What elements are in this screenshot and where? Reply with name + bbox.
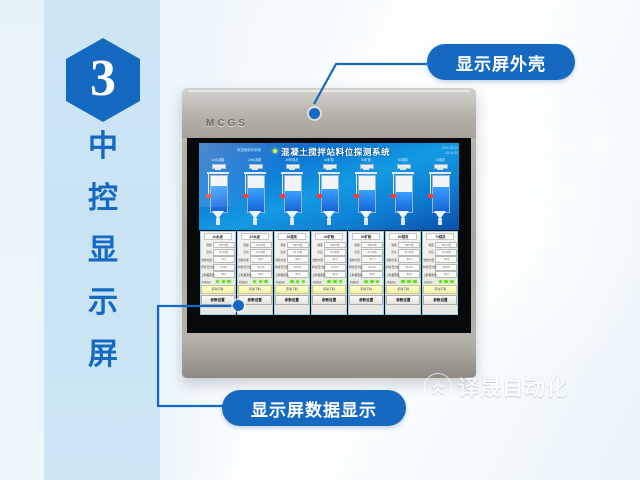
silo-sensor-icon <box>280 194 285 198</box>
field-value[interactable]: 02.30米 <box>398 249 420 256</box>
status-lights: 状态指示 <box>386 280 420 284</box>
silo-graphic <box>243 164 267 226</box>
field-label: 当前方量 <box>312 258 322 262</box>
field-label: 当前方量 <box>201 258 211 262</box>
callout-shell: 显示屏外壳 <box>427 44 575 80</box>
manual-feed-button[interactable]: 手动下料 <box>312 285 346 294</box>
sidebar-label-char-1: 控 <box>88 184 118 214</box>
manual-feed-button[interactable]: 手动下料 <box>349 285 383 294</box>
status-led-icon <box>216 280 220 284</box>
silo-body <box>432 175 450 213</box>
field-label: 容量 <box>312 243 322 247</box>
status-led-icon <box>253 280 257 284</box>
field-label: 料位百分比 <box>424 265 434 269</box>
field-value[interactable]: 72.5% <box>213 264 235 271</box>
silo-rod-icon <box>319 173 320 195</box>
field-value[interactable]: 01.95米 <box>361 249 383 256</box>
device-brand-logo: MCGS <box>206 118 248 129</box>
callout-shell-anchor-dot <box>309 108 320 119</box>
field-label: 容量 <box>201 243 211 247</box>
panel-header: 6#煤灰 <box>389 233 417 240</box>
silo-sensor-icon <box>391 194 396 198</box>
silo-panel: 6#煤灰容量080.0吨空高02.30米当前方量55.4料位百分比55.4%上料… <box>385 231 421 315</box>
field-label: 空高 <box>312 250 322 254</box>
status-lights: 状态指示 <box>238 280 272 284</box>
status-lights: 状态指示 <box>349 280 383 284</box>
silo-neck-icon <box>252 167 258 170</box>
silo-cell: 4#矿粉 <box>310 157 347 230</box>
silo-neck-icon <box>437 167 443 170</box>
panel-row-field: 空高02.30米 <box>386 249 420 256</box>
field-value[interactable]: 100.0吨 <box>250 242 272 249</box>
hmi-clock-line: 09:41:23 <box>442 151 458 156</box>
status-lights-label: 状态指示 <box>275 280 287 284</box>
field-value[interactable]: 58.2 <box>287 256 309 263</box>
field-value[interactable]: 61.3% <box>361 264 383 271</box>
panel-header: 1#水泥 <box>204 233 232 240</box>
panel-row-field: 当前方量64.1 <box>312 256 346 263</box>
silo-cell: 1#水泥罐 <box>199 157 236 230</box>
panel-row-field: 空高01.95米 <box>349 249 383 256</box>
silo-cell: 3#粉煤灰 <box>273 157 310 230</box>
status-led-icon <box>327 280 331 284</box>
silo-cell: 5#矿粉 <box>348 157 385 230</box>
silo-rod-icon <box>356 173 357 195</box>
panel-row-field: 容量100.0吨 <box>201 242 235 249</box>
field-value[interactable]: 69.8 <box>435 256 457 263</box>
silo-neck-icon <box>289 167 295 170</box>
silo-rod-icon <box>282 173 283 195</box>
status-led-icon <box>376 280 380 284</box>
sidebar-label-char-2: 显 <box>88 236 118 266</box>
silo-level-fill <box>359 190 375 212</box>
panel-row-field: 当前方量61.3 <box>349 256 383 263</box>
panel-header: 5#矿粉 <box>352 233 380 240</box>
status-lights: 状态指示 <box>201 280 235 284</box>
field-value[interactable]: 55.4% <box>398 264 420 271</box>
status-led-icon <box>290 280 294 284</box>
silo-neck-icon <box>400 167 406 170</box>
watermark-text: 译晟自动化 <box>458 372 568 402</box>
panel-row-field: 当前方量69.8 <box>423 256 457 263</box>
status-led-icon <box>296 280 300 284</box>
field-value[interactable]: 66.0 <box>250 256 272 263</box>
field-label: 上料报警值 <box>201 273 211 277</box>
panel-row-field: 容量080.0吨 <box>312 242 346 249</box>
silo-body <box>321 175 339 213</box>
silo-arm-icon <box>355 172 377 174</box>
manual-feed-button[interactable]: 手动下料 <box>238 285 272 294</box>
field-value[interactable]: 100.0吨 <box>213 242 235 249</box>
field-label: 空高 <box>275 250 285 254</box>
silo-label: 4#矿粉 <box>324 157 334 162</box>
background-left-edge <box>0 0 46 480</box>
silo-panel: 5#矿粉容量080.0吨空高01.95米当前方量61.3料位百分比61.3%上料… <box>348 231 384 315</box>
silo-rod-icon <box>393 173 394 195</box>
panel-row-field: 上料报警值90.0 <box>423 271 457 278</box>
panel-row-field: 上料报警值90.0 <box>312 271 346 278</box>
panel-row-field: 上料报警值95.0 <box>201 271 235 278</box>
sidebar-label-char-4: 屏 <box>88 340 118 370</box>
field-label: 空高 <box>424 250 434 254</box>
status-lights-label: 状态指示 <box>201 280 213 284</box>
panel-header: 7#煤灰 <box>426 233 454 240</box>
field-value[interactable]: 080.0吨 <box>435 242 457 249</box>
silo-row: 1#水泥罐2#水泥罐3#粉煤灰4#矿粉5#矿粉6#煤灰7#煤灰 <box>199 157 459 230</box>
status-led-icon <box>302 280 306 284</box>
field-label: 当前方量 <box>238 258 248 262</box>
field-label: 容量 <box>349 243 359 247</box>
parameter-settings-button[interactable]: 参数设置 <box>349 295 383 305</box>
panel-row-field: 容量080.0吨 <box>386 242 420 249</box>
sidebar-label-char-0: 中 <box>88 132 118 162</box>
panel-header: 4#矿粉 <box>315 233 343 240</box>
silo-sensor-icon <box>317 194 322 198</box>
field-value[interactable]: 080.0吨 <box>361 242 383 249</box>
panel-row-field: 上料报警值90.0 <box>386 271 420 278</box>
status-led-icon <box>450 280 454 284</box>
parameter-settings-button[interactable]: 参数设置 <box>312 295 346 305</box>
silo-sensor-icon <box>428 194 433 198</box>
step-number: 3 <box>90 53 116 105</box>
status-led-icon <box>364 280 368 284</box>
field-label: 料位百分比 <box>275 265 285 269</box>
field-label: 料位百分比 <box>312 265 322 269</box>
status-led-icon <box>401 280 405 284</box>
field-label: 空高 <box>238 250 248 254</box>
silo-arm-icon <box>281 172 303 174</box>
silo-body <box>210 175 228 213</box>
manual-feed-button[interactable]: 手动下料 <box>386 285 420 294</box>
silo-cap-icon <box>212 164 226 169</box>
silo-panel: 7#煤灰容量080.0吨空高01.50米当前方量69.8料位百分比69.8%上料… <box>422 231 458 315</box>
silo-level-fill <box>285 191 301 212</box>
silo-graphic <box>428 164 452 226</box>
panel-row-field: 上料报警值95.0 <box>238 271 272 278</box>
field-label: 料位百分比 <box>201 265 211 269</box>
field-value[interactable]: 90.0 <box>398 271 420 278</box>
panel-row-field: 容量080.0吨 <box>349 242 383 249</box>
status-lights-label: 状态指示 <box>238 280 250 284</box>
field-label: 料位百分比 <box>238 265 248 269</box>
silo-graphic <box>317 164 341 226</box>
silo-graphic <box>354 164 378 226</box>
field-value[interactable]: 90.0 <box>435 271 457 278</box>
silo-arm-icon <box>318 172 340 174</box>
silo-body <box>284 175 302 213</box>
status-led-icon <box>222 280 226 284</box>
status-led-icon <box>444 280 448 284</box>
panel-row-field: 料位百分比66.0% <box>238 264 272 271</box>
silo-level-fill <box>322 189 338 212</box>
callout-data: 显示屏数据显示 <box>222 390 406 426</box>
field-value[interactable]: 080.0吨 <box>324 242 346 249</box>
hexagon-icon: 3 <box>66 38 140 122</box>
status-led-icon <box>333 280 337 284</box>
field-value[interactable]: 90.0 <box>287 271 309 278</box>
watermark: 仌 译晟自动化 <box>424 372 568 402</box>
field-value[interactable]: 01.50米 <box>435 249 457 256</box>
field-label: 上料报警值 <box>238 273 248 277</box>
panel-row-field: 空高01.20米 <box>201 249 235 256</box>
status-led-icon <box>413 280 417 284</box>
hmi-subtitle: 欢迎使用本系统 <box>237 147 261 152</box>
silo-graphic <box>206 164 230 226</box>
silo-cap-icon <box>286 164 300 169</box>
status-lights-label: 状态指示 <box>424 280 436 284</box>
silo-neck-icon <box>326 167 332 170</box>
silo-label: 2#水泥罐 <box>248 157 261 162</box>
status-led-icon <box>439 280 443 284</box>
panel-row-field: 当前方量66.0 <box>238 256 272 263</box>
watermark-logo-icon: 仌 <box>424 373 452 401</box>
parameter-settings-button[interactable]: 参数设置 <box>423 295 457 305</box>
field-label: 当前方量 <box>387 258 397 262</box>
field-value[interactable]: 080.0吨 <box>287 242 309 249</box>
silo-sensor-icon <box>206 194 211 198</box>
hmi-clock: 2021-08-1209:41:23 <box>442 146 458 156</box>
silo-cap-icon <box>249 164 263 169</box>
silo-outlet-icon <box>438 218 442 225</box>
silo-arm-icon <box>244 172 266 174</box>
field-label: 容量 <box>275 243 285 247</box>
status-led-icon <box>339 280 343 284</box>
silo-rod-icon <box>430 173 431 195</box>
panel-row-field: 当前方量58.2 <box>275 256 309 263</box>
field-label: 料位百分比 <box>349 265 359 269</box>
silo-rod-icon <box>245 173 246 195</box>
panel-row-field: 空高01.65米 <box>238 249 272 256</box>
silo-cell: 2#水泥罐 <box>236 157 273 230</box>
silo-panel: 3#煤灰容量080.0吨空高02.10米当前方量58.2料位百分比58.2%上料… <box>274 231 310 315</box>
field-value[interactable]: 61.3 <box>361 256 383 263</box>
status-indicator-icon <box>273 149 277 153</box>
silo-outlet-icon <box>401 218 405 225</box>
field-label: 容量 <box>387 243 397 247</box>
panel-row-field: 空高02.10米 <box>275 249 309 256</box>
sidebar-label-char-3: 示 <box>88 288 118 318</box>
field-value[interactable]: 95.0 <box>213 271 235 278</box>
field-value[interactable]: 080.0吨 <box>398 242 420 249</box>
status-led-icon <box>264 280 268 284</box>
silo-body <box>247 175 265 213</box>
silo-cell: 6#煤灰 <box>385 157 422 230</box>
silo-graphic <box>391 164 415 226</box>
status-led-icon <box>227 280 231 284</box>
field-value[interactable]: 01.85米 <box>324 249 346 256</box>
field-value[interactable]: 64.1% <box>324 264 346 271</box>
field-value[interactable]: 66.0% <box>250 264 272 271</box>
field-label: 空高 <box>387 250 397 254</box>
status-lights-label: 状态指示 <box>313 280 325 284</box>
field-value[interactable]: 90.0 <box>324 271 346 278</box>
field-label: 空高 <box>201 250 211 254</box>
silo-label: 1#水泥罐 <box>211 157 224 162</box>
field-label: 空高 <box>349 250 359 254</box>
field-value[interactable]: 72.5 <box>213 256 235 263</box>
manual-feed-button[interactable]: 手动下料 <box>275 285 309 294</box>
field-label: 料位百分比 <box>387 265 397 269</box>
field-value[interactable]: 01.20米 <box>213 249 235 256</box>
silo-outlet-icon <box>327 218 331 225</box>
status-lights: 状态指示 <box>275 280 309 284</box>
callout-data-anchor-dot <box>233 300 244 311</box>
panel-header: 3#煤灰 <box>278 233 306 240</box>
silo-arm-icon <box>429 172 451 174</box>
silo-label: 5#矿粉 <box>361 157 371 162</box>
silo-arm-icon <box>207 172 229 174</box>
field-label: 上料报警值 <box>424 273 434 277</box>
field-value[interactable]: 90.0 <box>361 271 383 278</box>
parameter-settings-button[interactable]: 参数设置 <box>386 295 420 305</box>
manual-feed-button[interactable]: 手动下料 <box>423 285 457 294</box>
field-label: 当前方量 <box>349 258 359 262</box>
panel-row-field: 料位百分比61.3% <box>349 264 383 271</box>
status-lights-label: 状态指示 <box>387 280 399 284</box>
panel-row-field: 料位百分比58.2% <box>275 264 309 271</box>
silo-level-fill <box>433 187 449 212</box>
silo-panel: 4#矿粉容量080.0吨空高01.85米当前方量64.1料位百分比64.1%上料… <box>311 231 347 315</box>
status-led-icon <box>407 280 411 284</box>
hmi-graphic-area: 欢迎使用本系统 混凝土搅拌站料位探测系统 2021-08-1209:41:23 … <box>199 143 459 230</box>
panel-row-field: 容量080.0吨 <box>423 242 457 249</box>
silo-neck-icon <box>363 167 369 170</box>
panel-row-field: 空高01.85米 <box>312 249 346 256</box>
silo-body <box>395 175 413 213</box>
status-lights: 状态指示 <box>423 280 457 284</box>
silo-outlet-icon <box>364 218 368 225</box>
manual-feed-button[interactable]: 手动下料 <box>201 285 235 294</box>
silo-body <box>358 175 376 213</box>
field-value[interactable]: 01.65米 <box>250 249 272 256</box>
status-lights-label: 状态指示 <box>350 280 362 284</box>
callout-shell-leader-path <box>314 64 427 104</box>
field-label: 上料报警值 <box>275 273 285 277</box>
status-led-icon <box>370 280 374 284</box>
panel-row-field: 料位百分比72.5% <box>201 264 235 271</box>
panel-row-field: 料位百分比55.4% <box>386 264 420 271</box>
callout-data-leader-path <box>158 306 240 406</box>
silo-sensor-icon <box>243 194 248 198</box>
field-label: 上料报警值 <box>349 273 359 277</box>
panel-row-field: 上料报警值90.0 <box>275 271 309 278</box>
panel-header: 2#水泥 <box>241 233 269 240</box>
silo-level-fill <box>396 192 412 212</box>
silo-sensor-icon <box>354 194 359 198</box>
panel-row-field: 料位百分比69.8% <box>423 264 457 271</box>
field-label: 容量 <box>238 243 248 247</box>
field-label: 上料报警值 <box>387 273 397 277</box>
panel-row-field: 容量080.0吨 <box>275 242 309 249</box>
panel-row-field: 容量100.0吨 <box>238 242 272 249</box>
field-label: 当前方量 <box>424 258 434 262</box>
silo-outlet-icon <box>290 218 294 225</box>
status-lights: 状态指示 <box>312 280 346 284</box>
silo-graphic <box>280 164 304 226</box>
silo-arm-icon <box>392 172 414 174</box>
field-label: 当前方量 <box>275 258 285 262</box>
panel-row-field: 当前方量55.4 <box>386 256 420 263</box>
callout-shell-leader <box>300 52 440 112</box>
screenshot-stage: 3 中控显示屏 MCGS 欢迎使用本系统 混凝土搅拌站料位探测系统 2021-0… <box>0 0 640 480</box>
field-value[interactable]: 02.10米 <box>287 249 309 256</box>
field-label: 容量 <box>424 243 434 247</box>
field-value[interactable]: 55.4 <box>398 256 420 263</box>
panel-row-field: 空高01.50米 <box>423 249 457 256</box>
panel-row-field: 上料报警值90.0 <box>349 271 383 278</box>
field-value[interactable]: 58.2% <box>287 264 309 271</box>
silo-neck-icon <box>215 167 221 170</box>
field-label: 上料报警值 <box>312 273 322 277</box>
silo-level-fill <box>211 186 227 212</box>
field-value[interactable]: 69.8% <box>435 264 457 271</box>
hmi-screen[interactable]: 欢迎使用本系统 混凝土搅拌站料位探测系统 2021-08-1209:41:23 … <box>199 143 459 315</box>
panel-row-field: 当前方量72.5 <box>201 256 235 263</box>
status-led-icon <box>259 280 263 284</box>
silo-level-fill <box>248 188 264 212</box>
silo-label: 7#煤灰 <box>435 157 445 162</box>
step-badge: 3 <box>66 38 140 122</box>
field-value[interactable]: 64.1 <box>324 256 346 263</box>
silo-outlet-icon <box>216 218 220 225</box>
silo-outlet-icon <box>253 218 257 225</box>
panel-row-field: 料位百分比64.1% <box>312 264 346 271</box>
field-value[interactable]: 95.0 <box>250 271 272 278</box>
silo-rod-icon <box>208 173 209 195</box>
silo-label: 6#煤灰 <box>398 157 408 162</box>
parameter-settings-button[interactable]: 参数设置 <box>275 295 309 305</box>
silo-cell: 7#煤灰 <box>422 157 459 230</box>
silo-label: 3#粉煤灰 <box>285 157 298 162</box>
